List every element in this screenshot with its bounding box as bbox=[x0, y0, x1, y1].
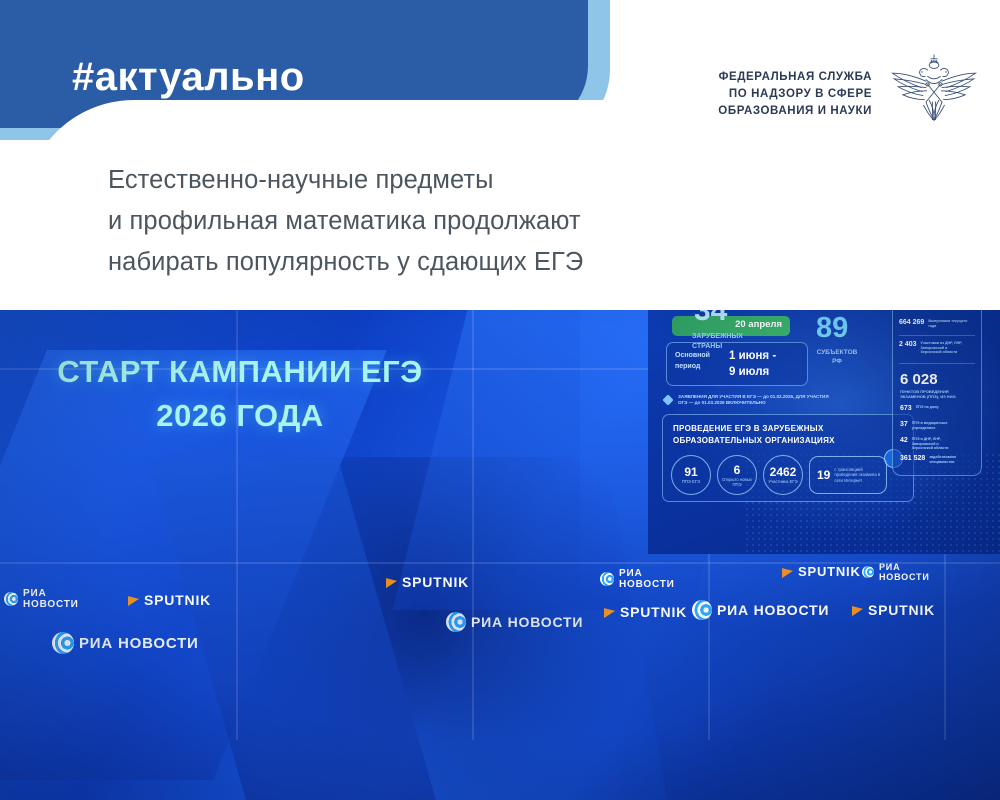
stat-value: 2 403 bbox=[899, 341, 917, 348]
stat-big-value: 6 028 bbox=[900, 371, 938, 388]
main-period-value: 1 июня - 9 июля bbox=[729, 348, 776, 380]
regions-label-l2: РФ bbox=[816, 357, 858, 366]
headline-line-1: Естественно-научные предметы bbox=[108, 160, 908, 201]
wall-seam bbox=[472, 310, 474, 740]
ria-logo: РИА НОВОСТИ bbox=[692, 600, 829, 620]
stat-row: 664 269 Выпускники текущего года bbox=[899, 319, 972, 328]
ria-swirl-icon bbox=[4, 592, 18, 606]
stat-caption: ППЭ на дому bbox=[916, 405, 960, 410]
metric-caption: с трансляцией проведения экзамена в сети… bbox=[834, 467, 886, 483]
sputnik-logo-text: SPUTNIK bbox=[620, 604, 687, 620]
social-media-card: #актуально ФЕДЕРАЛЬНАЯ СЛУЖБА ПО НАДЗОРУ… bbox=[0, 0, 1000, 800]
ria-swirl-icon bbox=[862, 566, 874, 578]
org-name-line-1: ФЕДЕРАЛЬНАЯ СЛУЖБА bbox=[718, 69, 872, 86]
ria-logo: РИА НОВОСТИ bbox=[600, 568, 675, 590]
metric-caption: Открыто новых ППЭ bbox=[718, 477, 756, 487]
application-deadline-note: ЗАЯВЛЕНИЯ ДЛЯ УЧАСТИЯ В ЕГЭ — до 01.02.2… bbox=[678, 394, 838, 407]
regions-number: 89 bbox=[816, 314, 848, 343]
metric-caption: ППЭ ЕГЭ bbox=[682, 479, 700, 484]
main-period-value-l2: 9 июля bbox=[729, 364, 776, 380]
stat-value: 673 bbox=[900, 405, 912, 412]
sputnik-mark-icon bbox=[128, 594, 139, 606]
metric-caption: Участника ЕГЭ bbox=[768, 479, 797, 484]
stat-caption: Участники из ДНР, ЛНР, Запорожской и Хер… bbox=[921, 341, 965, 355]
stat-big-caption: ПУНКТОВ ПРОВЕДЕНИЯ ЭКЗАМЕНОВ (ППЭ), ИЗ Н… bbox=[900, 389, 974, 399]
slide-title-line-1: СТАРТ КАМПАНИИ ЕГЭ bbox=[10, 350, 470, 394]
ria-line-2: НОВОСТИ bbox=[879, 572, 930, 582]
regions-label: СУБЪЕКТОВ РФ bbox=[816, 348, 858, 366]
sputnik-logo-text: SPUTNIK bbox=[798, 564, 861, 579]
sputnik-logo-text: SPUTNIK bbox=[868, 602, 935, 618]
ria-logo: РИА НОВОСТИ bbox=[446, 612, 583, 632]
metric-circle: 2462 Участника ЕГЭ bbox=[763, 455, 803, 495]
stat-row: 37 ППЭ в медицинских учреждениях bbox=[900, 421, 956, 430]
ria-swirl-icon bbox=[446, 612, 466, 632]
ria-swirl-icon bbox=[52, 632, 74, 654]
org-name-line-3: ОБРАЗОВАНИЯ И НАУКИ bbox=[718, 103, 872, 120]
sputnik-mark-icon bbox=[782, 565, 793, 577]
metric-value: 6 bbox=[734, 464, 741, 476]
press-conference-photo: СТАРТ КАМПАНИИ ЕГЭ 2026 ГОДА 20 апреля О… bbox=[0, 310, 1000, 800]
sputnik-logo-text: SPUTNIK bbox=[144, 592, 211, 608]
countries-label: ЗАРУБЕЖНЫХ СТРАНЫ bbox=[692, 332, 743, 352]
double-headed-eagle-icon bbox=[886, 52, 982, 136]
ria-logo-text: РИА НОВОСТИ bbox=[23, 588, 79, 610]
sputnik-mark-icon bbox=[604, 606, 615, 618]
ria-logo-text: РИА НОВОСТИ bbox=[717, 602, 829, 618]
metric-value: 19 bbox=[817, 468, 830, 482]
stat-row: 2 403 Участники из ДНР, ЛНР, Запорожской… bbox=[899, 341, 965, 355]
abroad-exams-card: ПРОВЕДЕНИЕ ЕГЭ В ЗАРУБЕЖНЫХ ОБРАЗОВАТЕЛЬ… bbox=[662, 414, 914, 502]
main-period-label-l2: период bbox=[675, 361, 710, 372]
sputnik-logo: SPUTNIK bbox=[782, 564, 861, 579]
statistics-card: 664 269 Выпускники текущего года 2 403 У… bbox=[892, 310, 982, 476]
stat-row: 42 ППЭ в ДНР, ЛНР, Запорожской и Херсонс… bbox=[900, 437, 956, 451]
stat-value: 42 bbox=[900, 437, 908, 444]
sputnik-logo: SPUTNIK bbox=[386, 574, 469, 590]
ege-infographic-panel: 20 апреля Основной период 1 июня - 9 июл… bbox=[648, 310, 1000, 554]
sputnik-logo: SPUTNIK bbox=[604, 604, 687, 620]
stat-row: 673 ППЭ на дому bbox=[900, 405, 960, 412]
main-period-label: Основной период bbox=[675, 350, 710, 372]
sputnik-logo: SPUTNIK bbox=[128, 592, 211, 608]
countries-number: 34 bbox=[694, 310, 727, 326]
ria-logo-text: РИА НОВОСТИ bbox=[619, 568, 675, 590]
stat-value: 664 269 bbox=[899, 319, 924, 326]
regions-label-l1: СУБЪЕКТОВ bbox=[816, 348, 858, 357]
metric-circle: 91 ППЭ ЕГЭ bbox=[671, 455, 711, 495]
ria-logo-text: РИА НОВОСТИ bbox=[471, 614, 583, 630]
ria-logo: РИА НОВОСТИ bbox=[52, 632, 199, 654]
deadline-chip-value: 20 апреля bbox=[735, 319, 782, 330]
stat-value: 37 bbox=[900, 421, 908, 428]
stat-value: 361 528 bbox=[900, 455, 925, 462]
ria-line-1: РИА bbox=[619, 568, 675, 579]
card-header: #актуально ФЕДЕРАЛЬНАЯ СЛУЖБА ПО НАДЗОРУ… bbox=[0, 0, 1000, 310]
divider bbox=[899, 363, 975, 364]
headline-line-3: набирать популярность у сдающих ЕГЭ bbox=[108, 242, 908, 283]
page-title: Естественно-научные предметы и профильна… bbox=[108, 160, 908, 283]
hashtag-label: #актуально bbox=[72, 55, 305, 100]
ria-line-2: НОВОСТИ bbox=[619, 579, 675, 590]
ria-line-2: НОВОСТИ bbox=[23, 599, 79, 610]
stat-caption: задействовано специалистов bbox=[929, 455, 973, 464]
slide-title-line-2: 2026 ГОДА bbox=[10, 394, 470, 438]
metric-value: 91 bbox=[684, 466, 697, 478]
ria-logo: РИА НОВОСТИ bbox=[862, 562, 930, 582]
metric-value: 2462 bbox=[770, 466, 797, 478]
sputnik-mark-icon bbox=[386, 576, 397, 588]
slide-title: СТАРТ КАМПАНИИ ЕГЭ 2026 ГОДА bbox=[10, 350, 470, 438]
abroad-title-l1: ПРОВЕДЕНИЕ ЕГЭ В ЗАРУБЕЖНЫХ bbox=[673, 423, 835, 435]
rosobrnadzor-logo: ФЕДЕРАЛЬНАЯ СЛУЖБА ПО НАДЗОРУ В СФЕРЕ ОБ… bbox=[718, 52, 982, 136]
metric-circle: 6 Открыто новых ППЭ bbox=[717, 455, 757, 495]
stat-caption: Выпускники текущего года bbox=[928, 319, 972, 328]
ria-logo-text: РИА НОВОСТИ bbox=[879, 562, 930, 582]
stat-caption: ППЭ в ДНР, ЛНР, Запорожской и Херсонской… bbox=[912, 437, 956, 451]
countries-label-l2: СТРАНЫ bbox=[692, 342, 743, 352]
metric-pill: 19 с трансляцией проведения экзамена в с… bbox=[809, 456, 887, 494]
ria-swirl-icon bbox=[600, 572, 614, 586]
sputnik-logo-text: SPUTNIK bbox=[402, 574, 469, 590]
stat-row: 361 528 задействовано специалистов bbox=[900, 455, 973, 464]
abroad-exams-title: ПРОВЕДЕНИЕ ЕГЭ В ЗАРУБЕЖНЫХ ОБРАЗОВАТЕЛЬ… bbox=[673, 423, 835, 447]
countries-label-l1: ЗАРУБЕЖНЫХ bbox=[692, 332, 743, 342]
stat-caption: ППЭ в медицинских учреждениях bbox=[912, 421, 956, 430]
sputnik-mark-icon bbox=[852, 604, 863, 616]
headline-line-2: и профильная математика продолжают bbox=[108, 201, 908, 242]
abroad-title-l2: ОБРАЗОВАТЕЛЬНЫХ ОРГАНИЗАЦИЯХ bbox=[673, 435, 835, 447]
divider bbox=[899, 335, 975, 336]
org-name-line-2: ПО НАДЗОРУ В СФЕРЕ bbox=[718, 86, 872, 103]
ria-line-1: РИА bbox=[879, 562, 930, 572]
ria-swirl-icon bbox=[692, 600, 712, 620]
ria-line-1: РИА bbox=[23, 588, 79, 599]
abroad-metrics: 91 ППЭ ЕГЭ 6 Открыто новых ППЭ 2462 Учас… bbox=[671, 455, 887, 495]
ria-logo-text: РИА НОВОСТИ bbox=[79, 635, 199, 652]
ria-logo: РИА НОВОСТИ bbox=[4, 588, 79, 610]
sputnik-logo: SPUTNIK bbox=[852, 602, 935, 618]
org-name: ФЕДЕРАЛЬНАЯ СЛУЖБА ПО НАДЗОРУ В СФЕРЕ ОБ… bbox=[718, 69, 872, 120]
